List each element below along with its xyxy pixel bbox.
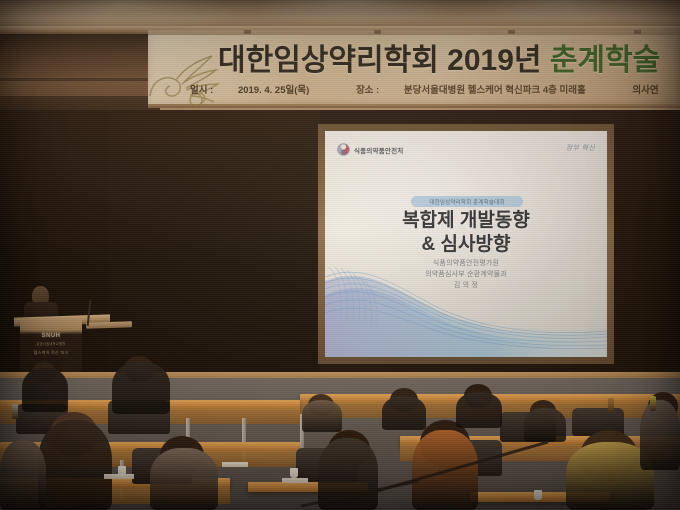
banner-extra-cut: 의사연 bbox=[632, 85, 658, 96]
paper-mid-desk bbox=[222, 462, 248, 467]
paper-left-desk bbox=[104, 474, 134, 479]
mfds-logo-text: 식품의약품안전처 bbox=[354, 145, 403, 155]
slogan-text: 정부 혁신 bbox=[566, 145, 595, 152]
paper-center-desk bbox=[282, 478, 308, 483]
attendee-long-hair-left bbox=[38, 420, 112, 510]
banner-clip-3 bbox=[508, 30, 515, 34]
bottle-right-yellow bbox=[650, 396, 656, 411]
floral-swirl-icon bbox=[148, 46, 220, 108]
banner-title-green: 춘계학술 bbox=[550, 44, 660, 77]
slide-title-line2: & 심사방향 bbox=[325, 233, 607, 257]
cup-right-desk bbox=[534, 490, 542, 500]
bottle-right-amber bbox=[608, 398, 614, 413]
government-slogan-logo: 정부 혁신 bbox=[566, 143, 595, 153]
bottle-left bbox=[12, 404, 18, 419]
slide-title-line1: 복합제 개발동향 bbox=[325, 209, 607, 233]
banner-clip-4 bbox=[634, 30, 641, 34]
attendee-back-row-b bbox=[382, 396, 426, 430]
banner-place-value: 분당서울대병원 헬스케어 혁신파크 4층 미래홀 bbox=[404, 85, 586, 96]
slide-title: 복합제 개발동향 & 심사방향 bbox=[325, 209, 607, 258]
slide-event-pill: 대한임상약리학회 춘계학술대회 bbox=[411, 196, 523, 207]
banner-date-label: 일시 : bbox=[190, 85, 213, 96]
slide-author-org: 식품의약품안전평가원 bbox=[325, 259, 607, 270]
banner-clip-1 bbox=[244, 30, 251, 34]
attendee-back-row-c bbox=[456, 392, 502, 428]
attendee-right-edge bbox=[640, 400, 680, 470]
podium-sub-text-2: 헬스케어 혁신 파크 bbox=[25, 350, 77, 356]
slide-author-block: 식품의약품안전평가원 의약품심사부 순환계약물과 김 의 정 bbox=[325, 259, 607, 292]
taegeuk-icon bbox=[337, 143, 350, 156]
attendee-back-row-d bbox=[524, 408, 566, 442]
banner-place-label: 장소 : bbox=[356, 85, 379, 96]
slide-author-dept: 의약품심사부 순환계약물과 bbox=[325, 270, 607, 281]
attendee-dark-suit-left bbox=[22, 368, 68, 412]
banner-title-dark: 대한임상약리학회 2019년 bbox=[218, 44, 550, 77]
slide-pill-label: 대한임상약리학회 춘계학술대회 bbox=[429, 198, 504, 206]
attendee-back-row-a bbox=[302, 400, 342, 432]
slide-author-name: 김 의 정 bbox=[325, 281, 607, 292]
banner-place: 장소 : 분당서울대병원 헬스케어 혁신파크 4층 미래홀 bbox=[356, 85, 608, 96]
banner-clip-2 bbox=[374, 30, 381, 34]
conference-photo-scene: 대한임상약리학회 2019년 춘계학술 일시 : 2019. 4. 25일(목)… bbox=[0, 0, 680, 510]
banner-date-value: 2019. 4. 25일(목) bbox=[238, 85, 309, 96]
mfds-logo: 식품의약품안전처 bbox=[337, 143, 403, 156]
cup-center-desk bbox=[290, 468, 298, 478]
attendee-dark-suit-center bbox=[112, 362, 170, 414]
attendee-grey-left bbox=[0, 440, 46, 510]
conference-banner: 대한임상약리학회 2019년 춘계학술 일시 : 2019. 4. 25일(목)… bbox=[148, 30, 680, 108]
banner-subtitle: 일시 : 2019. 4. 25일(목) 장소 : 분당서울대병원 헬스케어 혁… bbox=[190, 82, 680, 96]
attendee-striped bbox=[150, 448, 218, 510]
banner-bottom-trim bbox=[148, 104, 680, 108]
podium-logo-text: SNUH bbox=[25, 333, 77, 339]
banner-title: 대한임상약리학회 2019년 춘계학술 bbox=[218, 35, 680, 79]
podium-sub-text: 분당서울대학교병원 bbox=[25, 341, 77, 346]
projection-screen: 식품의약품안전처 정부 혁신 대한임상약리학회 춘계학술대회 복합제 개발동향 … bbox=[325, 131, 607, 357]
banner-date: 일시 : 2019. 4. 25일(목) bbox=[190, 85, 331, 96]
